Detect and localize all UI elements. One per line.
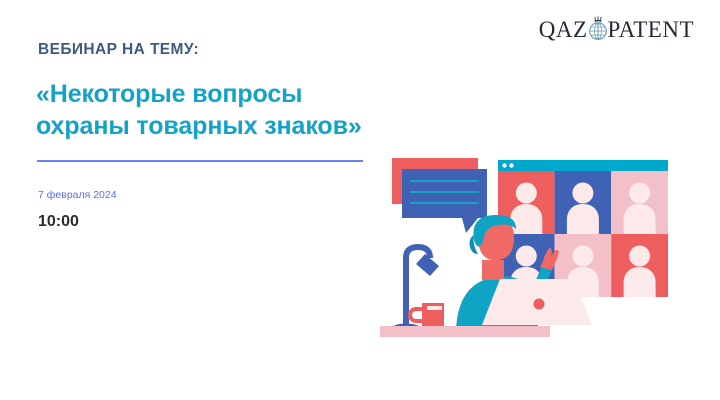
webinar-eyebrow-label: ВЕБИНАР НА ТЕМУ: — [38, 41, 199, 59]
video-conference-illustration — [378, 140, 708, 350]
logo-text-patent: PATENT — [608, 18, 695, 41]
desk-surface — [380, 326, 550, 337]
globe-seal-emblem-icon — [586, 16, 610, 42]
webinar-title: «Некоторые вопросы охраны товарных знако… — [36, 78, 366, 142]
video-tile-2 — [555, 171, 612, 234]
laptop-icon — [482, 279, 592, 325]
chat-bubble-front-icon — [402, 169, 487, 233]
qazpatent-logo: QAZ PATENT — [539, 14, 694, 44]
webinar-time: 10:00 — [38, 213, 79, 231]
logo-text-qaz: QAZ — [539, 18, 588, 41]
section-divider — [37, 160, 363, 162]
webinar-date: 7 февраля 2024 — [38, 189, 117, 201]
window-dot-1-icon — [502, 163, 506, 167]
video-tile-3 — [611, 171, 668, 234]
video-grid-window — [498, 160, 668, 297]
window-dot-2-icon — [509, 163, 513, 167]
video-tile-6 — [611, 234, 668, 297]
